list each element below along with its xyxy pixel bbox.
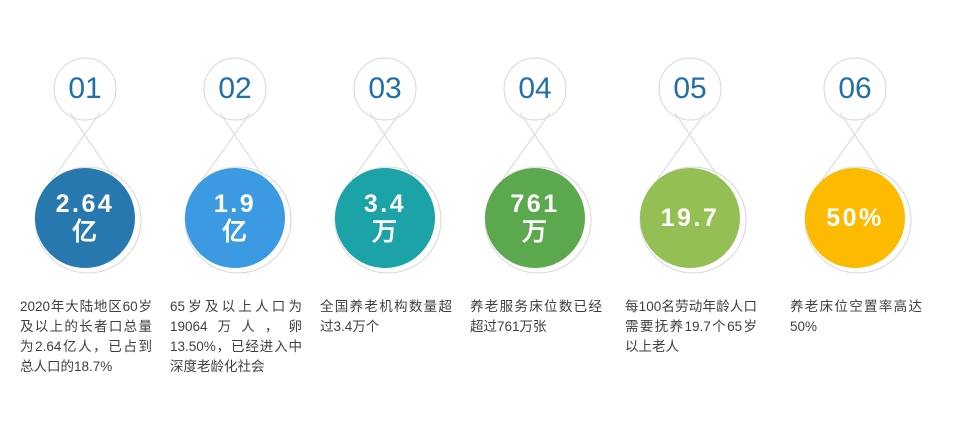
item-caption: 2020年大陆地区60岁及以上的长者口总量为2.64亿人，已占到总人口的18.7…	[20, 297, 152, 377]
stat-item[interactable]: 0519.7每100名劳动年龄人口需要抚养19.7个65岁以上老人	[615, 0, 765, 445]
stat-item[interactable]: 021.9亿65岁及以上人口为19064万人，卵13.50%，已经进入中深度老龄…	[160, 0, 310, 445]
stat-unit: 亿	[222, 218, 248, 246]
stat-unit: 万	[372, 218, 398, 246]
stat-bubble[interactable]: 3.4万	[335, 168, 435, 268]
item-caption: 65岁及以上人口为19064万人，卵13.50%，已经进入中深度老龄化社会	[170, 297, 302, 377]
item-caption: 每100名劳动年龄人口需要抚养19.7个65岁以上老人	[625, 297, 757, 357]
stat-value: 50%	[826, 204, 884, 232]
stat-bubble[interactable]: 1.9亿	[185, 168, 285, 268]
stat-item[interactable]: 033.4万全国养老机构数量超过3.4万个	[310, 0, 460, 445]
item-caption: 养老床位空置率高达50%	[790, 297, 922, 337]
stat-unit: 万	[522, 218, 548, 246]
stat-bubble[interactable]: 50%	[805, 168, 905, 268]
stat-value: 1.9	[214, 190, 256, 218]
stat-value: 761	[510, 190, 559, 218]
stat-item[interactable]: 04761万养老服务床位数已经超过761万张	[460, 0, 610, 445]
stat-bubble[interactable]: 761万	[485, 168, 585, 268]
item-caption: 养老服务床位数已经超过761万张	[470, 297, 602, 337]
stat-unit: 亿	[72, 218, 98, 246]
item-index-label: 03	[310, 74, 460, 104]
stat-value: 19.7	[661, 204, 720, 232]
item-index-label: 01	[10, 74, 160, 104]
item-index-label: 05	[615, 74, 765, 104]
item-caption: 全国养老机构数量超过3.4万个	[320, 297, 452, 337]
stat-value: 2.64	[56, 190, 115, 218]
infographic-root: 012.64亿2020年大陆地区60岁及以上的长者口总量为2.64亿人，已占到总…	[0, 0, 955, 445]
item-index-label: 02	[160, 74, 310, 104]
item-index-label: 04	[460, 74, 610, 104]
stat-bubble[interactable]: 2.64亿	[35, 168, 135, 268]
stat-value: 3.4	[364, 190, 406, 218]
stat-item[interactable]: 0650%养老床位空置率高达50%	[780, 0, 930, 445]
stat-bubble[interactable]: 19.7	[640, 168, 740, 268]
stat-item[interactable]: 012.64亿2020年大陆地区60岁及以上的长者口总量为2.64亿人，已占到总…	[10, 0, 160, 445]
item-index-label: 06	[780, 74, 930, 104]
